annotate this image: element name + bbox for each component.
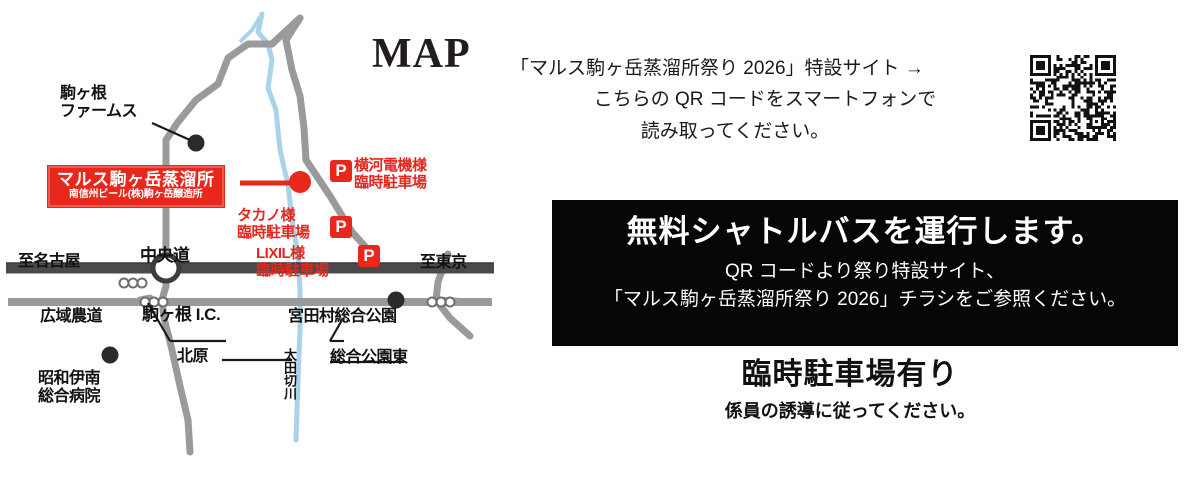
parking-marker-yokogawa: P [330, 160, 352, 182]
label-line: LIXIL様 [256, 246, 329, 263]
map-label-komagane-farms: 駒ヶ根ファームス [60, 85, 137, 121]
label-line: 至名古屋 [18, 253, 80, 271]
label-line: 北原 [177, 348, 208, 366]
label-line: 中央道 [140, 246, 190, 265]
parking-marker-takano: P [330, 216, 352, 238]
map-label-kouiki-noudou: 広域農道 [40, 308, 102, 326]
label-line: 昭和伊南 [38, 370, 100, 388]
parking-subtext: 係員の誘導に従ってください。 [500, 398, 1200, 425]
map-label-miyadamura-park: 宮田村総合公園 [288, 308, 397, 326]
map-label-to-nagoya: 至名古屋 [18, 253, 80, 271]
parking-marker-lixil: P [358, 245, 380, 267]
distillery-name: マルス駒ヶ岳蒸溜所 [57, 171, 215, 189]
map-label-sogo-koen-higashi: 総合公園東 [330, 349, 408, 367]
label-line: 臨時駐車場 [354, 175, 427, 192]
shuttle-sub-1: QR コードより祭り特設サイト、 [552, 258, 1178, 287]
site-line-2: こちらの QR コードをスマートフォンで [510, 84, 1020, 115]
label-line: 宮田村総合公園 [288, 308, 397, 326]
qr-code[interactable] [1030, 55, 1116, 141]
map-title: MAP [372, 30, 471, 78]
map-label-to-tokyo: 至東京 [420, 254, 467, 272]
shuttle-bus-banner: 無料シャトルバスを運行します。 QR コードより祭り特設サイト、 「マルス駒ヶ岳… [552, 200, 1178, 346]
label-line: 総合病院 [38, 388, 100, 406]
label-line: 駒ヶ根 [60, 85, 137, 103]
parking-availability-note: 臨時駐車場有り 係員の誘導に従ってください。 [500, 357, 1200, 425]
map-label-showa-inan-hospital: 昭和伊南総合病院 [38, 370, 100, 406]
parking-label-takano: タカノ様臨時駐車場 [237, 208, 310, 242]
qr-code-image [1030, 55, 1116, 141]
label-line: 横河電機様 [354, 158, 427, 175]
map-label-kitahara: 北原 [177, 348, 208, 366]
label-line: 至東京 [420, 254, 467, 272]
map-panel: MAP マルス駒ヶ岳蒸溜所 南信州ビール(株)駒ヶ岳醸造所 駒ヶ根ファームス至名… [0, 0, 500, 478]
shuttle-headline: 無料シャトルバスを運行します。 [552, 213, 1178, 252]
distillery-callout: マルス駒ヶ岳蒸溜所 南信州ビール(株)駒ヶ岳醸造所 [48, 166, 224, 207]
map-label-chuo-expressway: 中央道 [140, 246, 190, 265]
parking-label-lixil: LIXIL様臨時駐車場 [256, 246, 329, 280]
label-line: 駒ヶ根 I.C. [142, 305, 220, 324]
flyer-page: MAP マルス駒ヶ岳蒸溜所 南信州ビール(株)駒ヶ岳醸造所 駒ヶ根ファームス至名… [0, 0, 1200, 478]
label-line: 臨時駐車場 [237, 225, 310, 242]
site-instructions: 「マルス駒ヶ岳蒸溜所祭り 2026」特設サイト → こちらの QR コードをスマ… [510, 53, 1020, 147]
dot-showa-inan-hospital [102, 347, 119, 364]
label-line: 総合公園東 [330, 349, 408, 367]
label-line: ファームス [60, 103, 137, 121]
dot-miyadamura-park [388, 292, 405, 309]
label-line: タカノ様 [237, 208, 310, 225]
shuttle-sub-2: 「マルス駒ヶ岳蒸溜所祭り 2026」チラシをご参照ください。 [552, 286, 1178, 314]
dot-komagane-farms [188, 135, 205, 152]
parking-label-yokogawa: 横河電機様臨時駐車場 [354, 158, 427, 192]
label-line: 臨時駐車場 [256, 263, 329, 280]
river-label: 太田切川 [283, 348, 296, 400]
label-line: 広域農道 [40, 308, 102, 326]
distillery-marker [289, 171, 311, 193]
map-label-komagane-ic: 駒ヶ根 I.C. [142, 305, 220, 324]
parking-headline: 臨時駐車場有り [500, 357, 1200, 393]
info-panel: 「マルス駒ヶ岳蒸溜所祭り 2026」特設サイト → こちらの QR コードをスマ… [500, 0, 1200, 478]
distillery-subname: 南信州ビール(株)駒ヶ岳醸造所 [57, 189, 215, 201]
site-line-3: 読み取ってください。 [510, 116, 1020, 147]
site-line-1: 「マルス駒ヶ岳蒸溜所祭り 2026」特設サイト → [510, 53, 1020, 84]
